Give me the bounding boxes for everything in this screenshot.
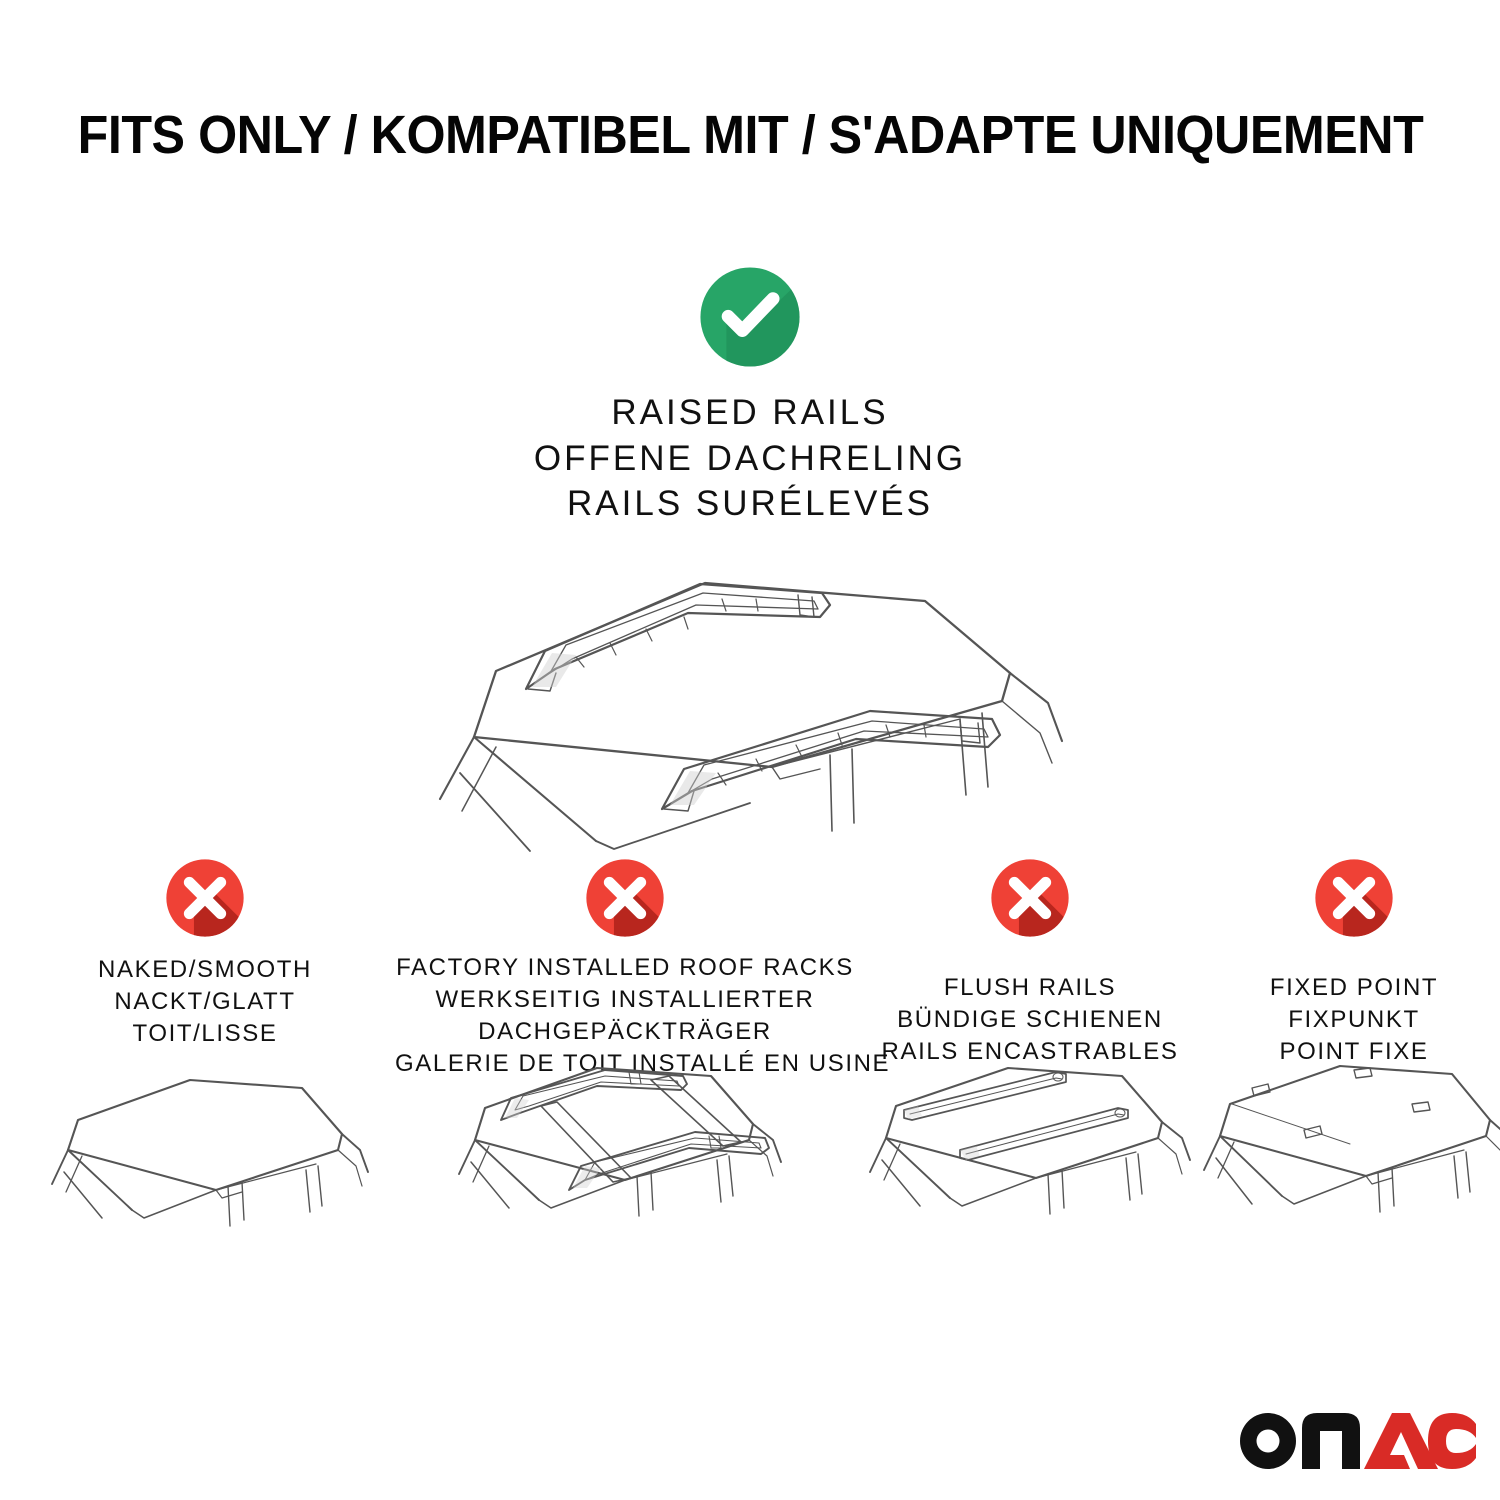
label-line-en: NAKED/SMOOTH bbox=[35, 954, 375, 986]
label-line-en: FACTORY INSTALLED ROOF RACKS bbox=[395, 952, 855, 984]
label-line-de: FIXPUNKT bbox=[1208, 1004, 1500, 1036]
car-roof-raised-rails-illustration bbox=[400, 541, 1100, 861]
omac-logo bbox=[1238, 1408, 1476, 1474]
car-roof-flush-rails-illustration bbox=[860, 1048, 1200, 1284]
label-line-de-2: DACHGEPÄCKTRÄGER bbox=[395, 1016, 855, 1048]
label-line-de: BÜNDIGE SCHIENEN bbox=[862, 1004, 1198, 1036]
page-title: FITS ONLY / KOMPATIBEL MIT / S'ADAPTE UN… bbox=[77, 104, 1423, 166]
x-circle-icon bbox=[579, 852, 671, 944]
compatible-label-de: OFFENE DACHRELING bbox=[0, 436, 1500, 482]
compatible-labels: RAISED RAILS OFFENE DACHRELING RAILS SUR… bbox=[0, 390, 1500, 527]
compatible-label-en: RAISED RAILS bbox=[0, 390, 1500, 436]
check-circle-icon bbox=[691, 258, 809, 376]
incompatible-labels: NAKED/SMOOTH NACKT/GLATT TOIT/LISSE bbox=[35, 954, 375, 1050]
label-line-de-1: WERKSEITIG INSTALLIERTER bbox=[395, 984, 855, 1016]
label-line-en: FIXED POINT bbox=[1208, 972, 1500, 1004]
incompatible-column-flush-rails: FLUSH RAILS BÜNDIGE SCHIENEN RAILS ENCAS… bbox=[862, 852, 1198, 1068]
incompatible-column-factory-roof-racks: FACTORY INSTALLED ROOF RACKS WERKSEITIG … bbox=[395, 852, 855, 1080]
incompatible-section: NAKED/SMOOTH NACKT/GLATT TOIT/LISSE bbox=[0, 852, 1500, 1322]
label-line-de: NACKT/GLATT bbox=[35, 986, 375, 1018]
label-line-en: FLUSH RAILS bbox=[862, 972, 1198, 1004]
car-roof-naked-smooth-illustration bbox=[40, 1060, 370, 1290]
incompatible-column-naked-smooth: NAKED/SMOOTH NACKT/GLATT TOIT/LISSE bbox=[35, 852, 375, 1050]
compatible-section: RAISED RAILS OFFENE DACHRELING RAILS SUR… bbox=[0, 258, 1500, 861]
car-roof-factory-roof-racks-illustration bbox=[445, 1048, 805, 1290]
x-circle-icon bbox=[984, 852, 1076, 944]
car-roof-fixed-point-illustration bbox=[1194, 1048, 1500, 1278]
x-circle-icon bbox=[1308, 852, 1400, 944]
x-circle-icon bbox=[159, 852, 251, 944]
page-header: FITS ONLY / KOMPATIBEL MIT / S'ADAPTE UN… bbox=[0, 104, 1500, 166]
label-line-fr: TOIT/LISSE bbox=[35, 1018, 375, 1050]
compatible-label-fr: RAILS SURÉLEVÉS bbox=[0, 481, 1500, 527]
incompatible-column-fixed-point: FIXED POINT FIXPUNKT POINT FIXE bbox=[1208, 852, 1500, 1068]
